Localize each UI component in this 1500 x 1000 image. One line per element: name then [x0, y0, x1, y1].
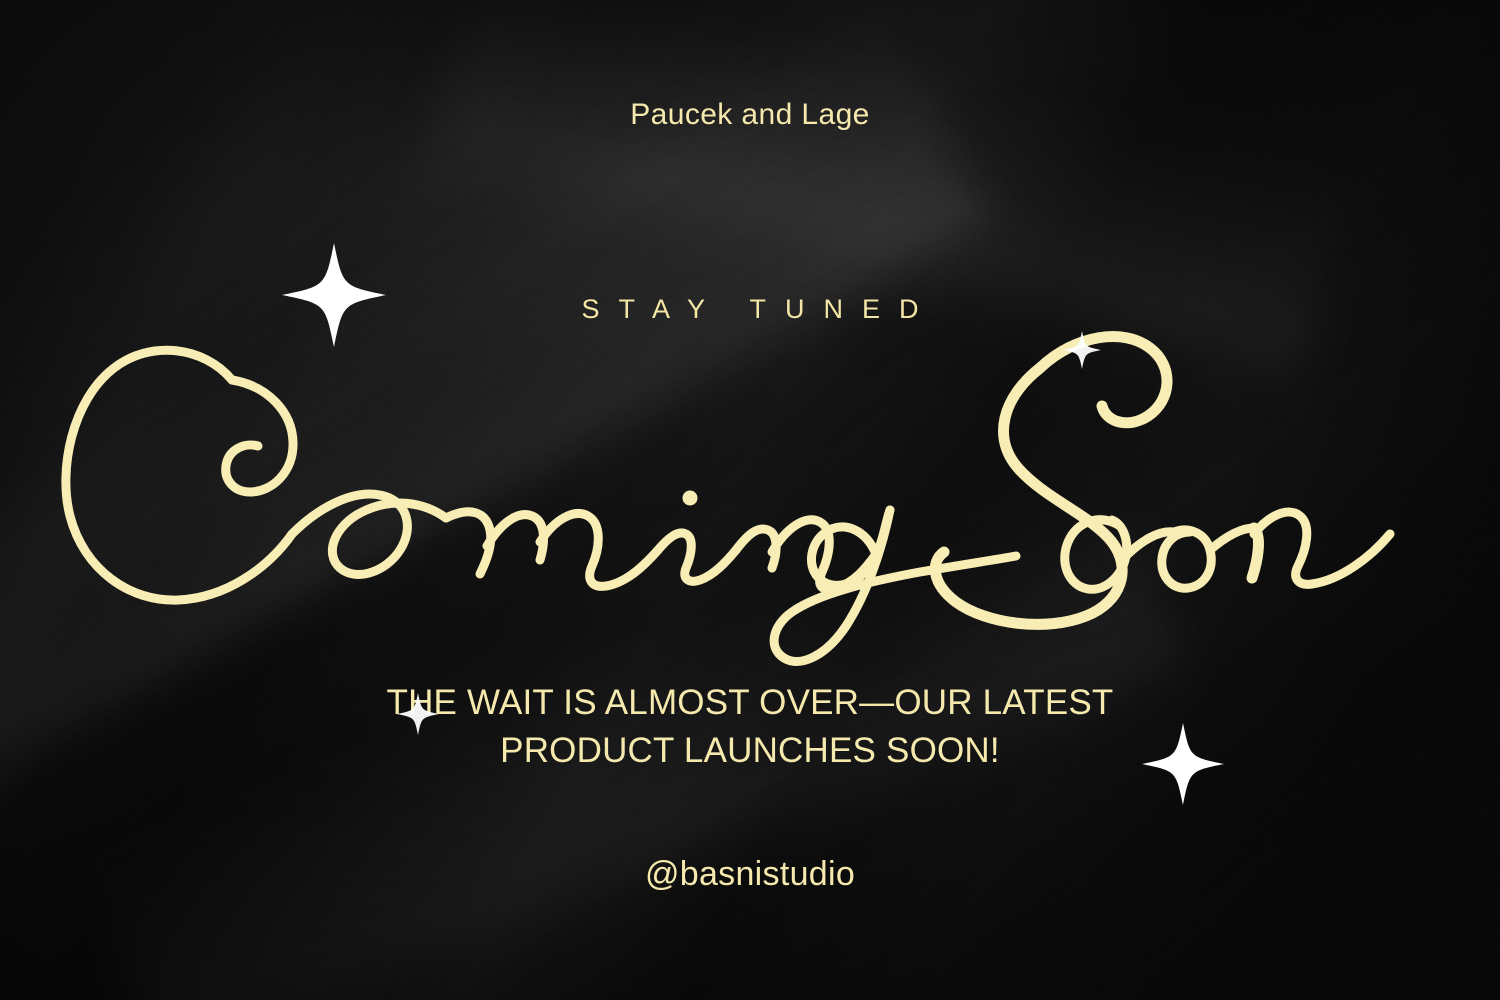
subcopy-line-2: PRODUCT LAUNCHES SOON! — [250, 727, 1250, 775]
social-handle: @basnistudio — [0, 855, 1500, 894]
headline-word-soon — [935, 337, 1390, 625]
subcopy: THE WAIT IS ALMOST OVER—OUR LATEST PRODU… — [250, 679, 1250, 775]
headline-word-coming — [66, 350, 1016, 661]
headline-coming-soon — [0, 320, 1500, 680]
subcopy-line-1: THE WAIT IS ALMOST OVER—OUR LATEST — [250, 679, 1250, 727]
brand-name: Paucek and Lage — [0, 98, 1500, 132]
coming-soon-poster: Paucek and Lage STAY TUNED — [0, 0, 1500, 1000]
